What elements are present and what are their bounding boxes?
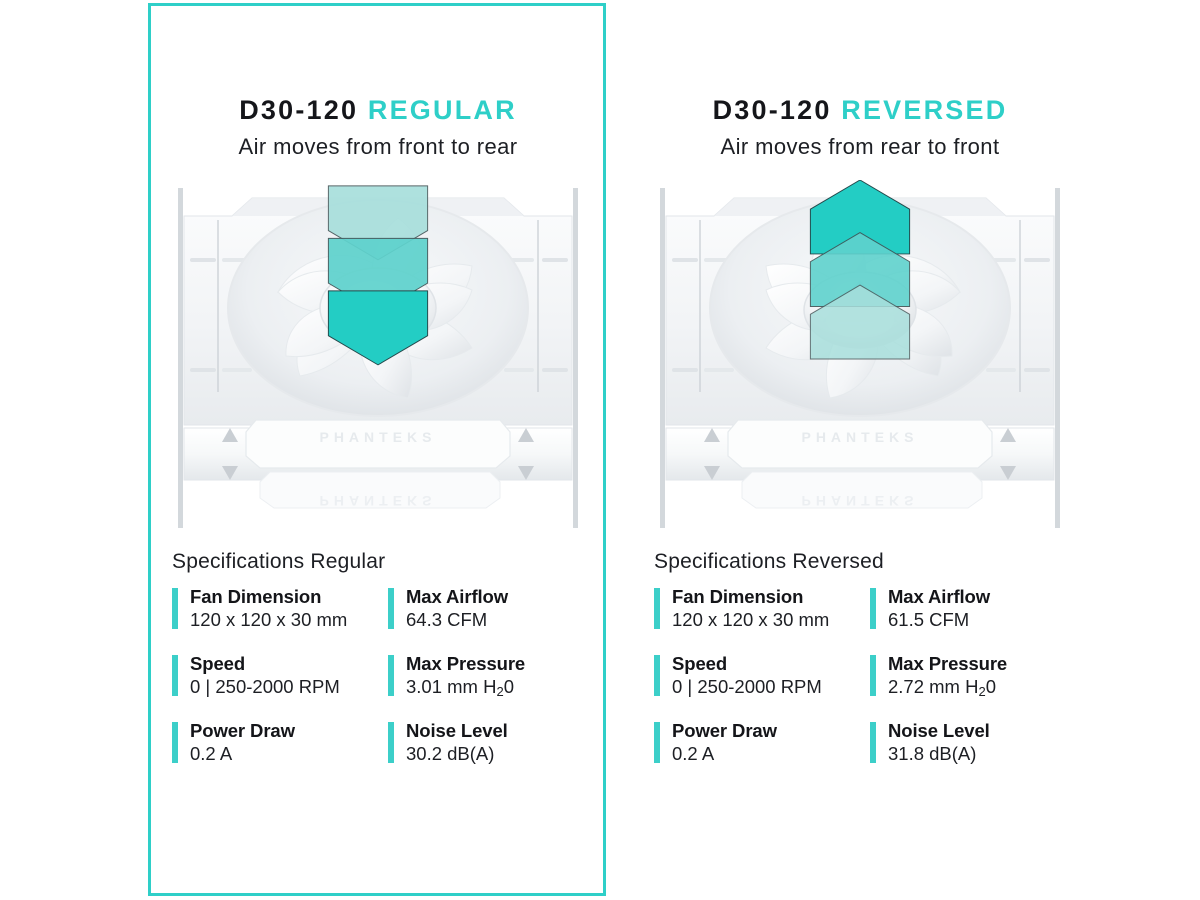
spec-max-airflow: Max Airflow 61.5 CFM [870,585,1078,652]
airflow-chevrons-reversed [805,180,915,360]
panel-title-reversed: D30-120 REVERSED [630,95,1090,126]
spec-value: 0 | 250-2000 RPM [672,675,870,699]
chevron-down-3-icon [328,291,427,365]
chevron-group-up [805,180,915,360]
title-variant: REVERSED [841,95,1007,125]
spec-label: Max Pressure [406,652,596,675]
spec-value-subscript: 2 [978,684,985,699]
panel-regular: D30-120 REGULAR Air moves from front to … [148,0,608,900]
spec-accent-bar [654,655,660,696]
spec-value: 0 | 250-2000 RPM [190,675,388,699]
spec-value-main: 2.72 mm H [888,676,978,697]
spec-noise-level: Noise Level 31.8 dB(A) [870,719,1078,786]
spec-accent-bar [172,655,178,696]
spec-value: 64.3 CFM [406,608,596,632]
spec-accent-bar [654,588,660,629]
spec-label: Power Draw [190,719,388,742]
spec-value-tail: 0 [504,676,514,697]
spec-power-draw: Power Draw 0.2 A [654,719,870,786]
spec-grid-reversed: Fan Dimension 120 x 120 x 30 mm Max Airf… [654,585,1078,786]
spec-accent-bar [870,655,876,696]
title-variant: REGULAR [368,95,517,125]
spec-value: 31.8 dB(A) [888,742,1078,766]
spec-accent-bar [870,588,876,629]
product-image-reversed: PHANTEKS PHANTEKS [642,180,1078,535]
panel-subtitle-regular: Air moves from front to rear [148,134,608,160]
spec-speed: Speed 0 | 250-2000 RPM [654,652,870,719]
spec-heading-reversed: Specifications Reversed [654,550,884,574]
spec-label: Noise Level [888,719,1078,742]
spec-value: 30.2 dB(A) [406,742,596,766]
panel-subtitle-reversed: Air moves from rear to front [630,134,1090,160]
spec-max-airflow: Max Airflow 64.3 CFM [388,585,596,652]
spec-power-draw: Power Draw 0.2 A [172,719,388,786]
spec-value: 0.2 A [672,742,870,766]
spec-label: Max Airflow [888,585,1078,608]
spec-value: 0.2 A [190,742,388,766]
spec-max-pressure: Max Pressure 3.01 mm H20 [388,652,596,719]
brand-embossed-regular: PHANTEKS [319,429,436,445]
comparison-page: D30-120 REGULAR Air moves from front to … [0,0,1200,900]
spec-value-main: 3.01 mm H [406,676,496,697]
spec-label: Fan Dimension [190,585,388,608]
spec-fan-dimension: Fan Dimension 120 x 120 x 30 mm [654,585,870,652]
airflow-chevrons-regular [323,180,433,360]
spec-accent-bar [388,722,394,763]
spec-grid-regular: Fan Dimension 120 x 120 x 30 mm Max Airf… [172,585,596,786]
spec-label: Max Pressure [888,652,1078,675]
spec-value: 2.72 mm H20 [888,675,1078,704]
brand-reflection-reversed: PHANTEKS [801,493,918,509]
spec-fan-dimension: Fan Dimension 120 x 120 x 30 mm [172,585,388,652]
spec-speed: Speed 0 | 250-2000 RPM [172,652,388,719]
brand-embossed-reversed: PHANTEKS [801,429,918,445]
spec-label: Speed [672,652,870,675]
spec-label: Noise Level [406,719,596,742]
spec-value: 61.5 CFM [888,608,1078,632]
spec-value: 3.01 mm H20 [406,675,596,704]
product-image-regular: PHANTEKS PHANTEKS [160,180,596,535]
spec-accent-bar [172,588,178,629]
panel-reversed: D30-120 REVERSED Air moves from rear to … [630,0,1090,900]
spec-accent-bar [388,588,394,629]
spec-accent-bar [870,722,876,763]
spec-value: 120 x 120 x 30 mm [672,608,870,632]
spec-accent-bar [388,655,394,696]
spec-label: Power Draw [672,719,870,742]
spec-value-tail: 0 [986,676,996,697]
spec-accent-bar [654,722,660,763]
chevron-group-down [323,180,433,360]
spec-value-subscript: 2 [496,684,503,699]
spec-noise-level: Noise Level 30.2 dB(A) [388,719,596,786]
spec-max-pressure: Max Pressure 2.72 mm H20 [870,652,1078,719]
title-model: D30-120 [239,95,358,125]
brand-reflection-regular: PHANTEKS [319,493,436,509]
spec-label: Fan Dimension [672,585,870,608]
spec-accent-bar [172,722,178,763]
spec-heading-regular: Specifications Regular [172,550,385,574]
spec-label: Max Airflow [406,585,596,608]
title-model: D30-120 [713,95,832,125]
spec-label: Speed [190,652,388,675]
spec-value: 120 x 120 x 30 mm [190,608,388,632]
panel-title-regular: D30-120 REGULAR [148,95,608,126]
